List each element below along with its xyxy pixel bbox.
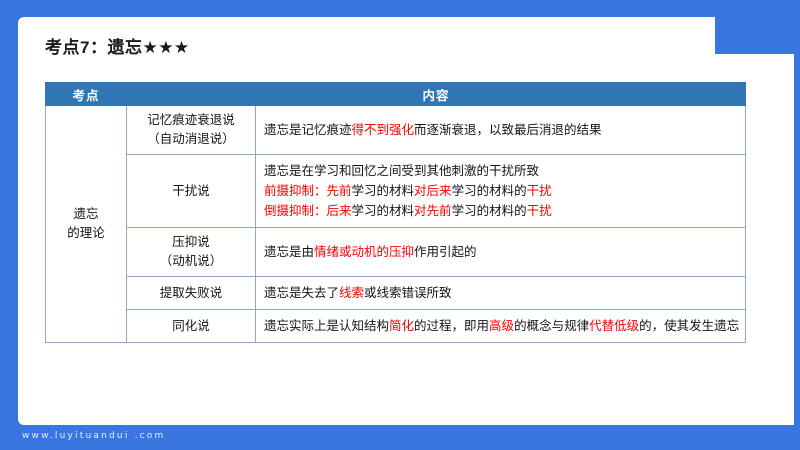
header-cell-topic: 考点	[46, 83, 127, 106]
theory-description-cell-assimilation: 遗忘实际上是认知结构简化的过程，即用高级的概念与规律代替低级的，使其发生遗忘	[256, 310, 746, 343]
table-header-row: 考点 内容	[46, 83, 746, 106]
theory-name-line-1: 压抑说	[129, 233, 253, 252]
description-line: 倒摄抑制：后来学习的材料对先前学习的材料的干扰	[264, 201, 745, 221]
card-right-edge	[794, 54, 800, 425]
highlighted-text: 干扰	[527, 184, 552, 198]
highlighted-text: 对后来	[414, 184, 452, 198]
slide-root: 考点7：遗忘★★★ 考点 内容 遗忘的理论记忆痕迹衰退说（自动消退说）遗忘是记忆…	[0, 0, 800, 450]
highlighted-text: 高级	[489, 319, 514, 333]
topic-line-2: 的理论	[46, 224, 126, 243]
table-row: 干扰说遗忘是在学习和回忆之间受到其他刺激的干扰所致前摄抑制：先前学习的材料对后来…	[46, 154, 746, 228]
theory-name-line-2: （动机说）	[129, 252, 253, 271]
table-row: 压抑说（动机说）遗忘是由情绪或动机的压抑作用引起的	[46, 228, 746, 277]
plain-text: 遗忘是在学习和回忆之间受到其他刺激的干扰所致	[264, 164, 539, 178]
plain-text: 学习的材料	[352, 184, 415, 198]
theory-name-line-2: （自动消退说）	[129, 130, 253, 149]
plain-text: 的过程，即用	[414, 319, 489, 333]
theory-name-line-1: 同化说	[129, 317, 253, 336]
content-card: 考点7：遗忘★★★ 考点 内容 遗忘的理论记忆痕迹衰退说（自动消退说）遗忘是记忆…	[18, 17, 800, 425]
theory-name-line-1: 干扰说	[129, 182, 253, 201]
plain-text: 遗忘是记忆痕迹	[264, 123, 352, 137]
table-body: 遗忘的理论记忆痕迹衰退说（自动消退说）遗忘是记忆痕迹得不到强化而逐渐衰退，以致最…	[46, 106, 746, 343]
description-line: 遗忘是由情绪或动机的压抑作用引起的	[264, 242, 745, 262]
highlighted-text: 对先前	[414, 204, 452, 218]
plain-text: 遗忘是失去了	[264, 286, 339, 300]
plain-text: 学习的材料	[352, 204, 415, 218]
card-corner-notch	[715, 17, 800, 54]
table-row: 同化说遗忘实际上是认知结构简化的过程，即用高级的概念与规律代替低级的，使其发生遗…	[46, 310, 746, 343]
highlighted-text: 倒摄抑制：	[264, 204, 327, 218]
plain-text: 遗忘实际上是认知结构	[264, 319, 389, 333]
plain-text: 作用引起的	[414, 245, 477, 259]
topic-line-1: 遗忘	[46, 205, 126, 224]
knowledge-point-table: 考点 内容 遗忘的理论记忆痕迹衰退说（自动消退说）遗忘是记忆痕迹得不到强化而逐渐…	[45, 82, 746, 343]
plain-text: 遗忘是由	[264, 245, 314, 259]
plain-text: 学习的材料的	[452, 204, 527, 218]
theory-name-cell-assimilation: 同化说	[127, 310, 256, 343]
theory-name-line-1: 记忆痕迹衰退说	[129, 111, 253, 130]
description-line: 遗忘是在学习和回忆之间受到其他刺激的干扰所致	[264, 161, 745, 181]
highlighted-text: 先前	[327, 184, 352, 198]
plain-text: 而逐渐衰退，以致最后消退的结果	[414, 123, 602, 137]
theory-name-cell-memory-trace-decay: 记忆痕迹衰退说（自动消退说）	[127, 106, 256, 155]
theory-name-cell-repression: 压抑说（动机说）	[127, 228, 256, 277]
footer-watermark: www.luyituandui .com	[22, 431, 165, 441]
highlighted-text: 后来	[327, 204, 352, 218]
theory-description-cell-memory-trace-decay: 遗忘是记忆痕迹得不到强化而逐渐衰退，以致最后消退的结果	[256, 106, 746, 155]
description-line: 遗忘实际上是认知结构简化的过程，即用高级的概念与规律代替低级的，使其发生遗忘	[264, 316, 745, 336]
plain-text: 或线索错误所致	[364, 286, 452, 300]
table-row: 遗忘的理论记忆痕迹衰退说（自动消退说）遗忘是记忆痕迹得不到强化而逐渐衰退，以致最…	[46, 106, 746, 155]
table-row: 提取失败说遗忘是失去了线索或线索错误所致	[46, 276, 746, 309]
page-title: 考点7：遗忘★★★	[45, 33, 190, 58]
plain-text: 的，使其发生遗忘	[639, 319, 739, 333]
highlighted-text: 代替低级	[589, 319, 639, 333]
plain-text: 学习的材料的	[452, 184, 527, 198]
theory-name-cell-interference: 干扰说	[127, 154, 256, 228]
plain-text: 的概念与规律	[514, 319, 589, 333]
theory-description-cell-interference: 遗忘是在学习和回忆之间受到其他刺激的干扰所致前摄抑制：先前学习的材料对后来学习的…	[256, 154, 746, 228]
description-line: 前摄抑制：先前学习的材料对后来学习的材料的干扰	[264, 181, 745, 201]
topic-cell-forgetting-theories: 遗忘的理论	[46, 106, 127, 343]
highlighted-text: 前摄抑制：	[264, 184, 327, 198]
description-line: 遗忘是失去了线索或线索错误所致	[264, 283, 745, 303]
theory-name-cell-retrieval-failure: 提取失败说	[127, 276, 256, 309]
theory-description-cell-retrieval-failure: 遗忘是失去了线索或线索错误所致	[256, 276, 746, 309]
highlighted-text: 线索	[339, 286, 364, 300]
theory-description-cell-repression: 遗忘是由情绪或动机的压抑作用引起的	[256, 228, 746, 277]
header-cell-content: 内容	[127, 83, 746, 106]
highlighted-text: 简化	[389, 319, 414, 333]
table-header: 考点 内容	[46, 83, 746, 106]
theory-name-line-1: 提取失败说	[129, 284, 253, 303]
highlighted-text: 得不到强化	[352, 123, 415, 137]
highlighted-text: 干扰	[527, 204, 552, 218]
description-line: 遗忘是记忆痕迹得不到强化而逐渐衰退，以致最后消退的结果	[264, 120, 745, 140]
highlighted-text: 情绪或动机的压抑	[314, 245, 414, 259]
